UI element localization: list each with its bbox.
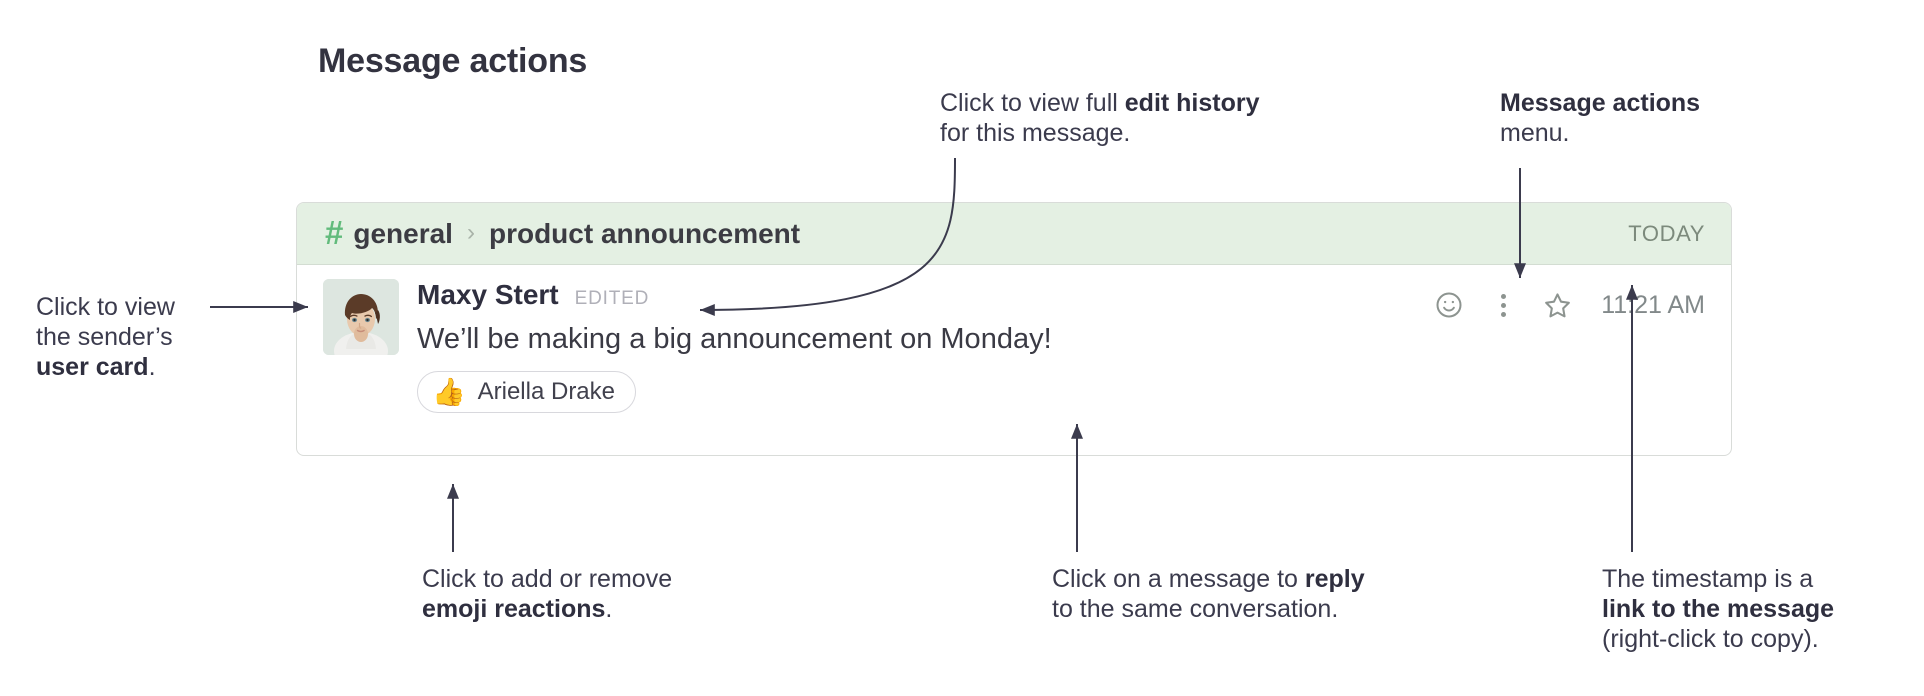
star-message-icon[interactable] — [1541, 289, 1573, 321]
message-text[interactable]: We’ll be making a big announcement on Mo… — [417, 321, 1705, 357]
message-card: # general › product announcement TODAY — [296, 202, 1732, 456]
annotation-user-card: Click to viewthe sender’suser card. — [36, 292, 256, 382]
thumbs-up-icon: 👍 — [432, 379, 466, 406]
dot-2 — [1501, 303, 1506, 308]
reaction-user-name: Ariella Drake — [478, 378, 615, 406]
annotation-edit-history: Click to view full edit historyfor this … — [940, 88, 1360, 148]
message-actions-menu-icon[interactable] — [1487, 289, 1519, 321]
channel-name[interactable]: general — [353, 218, 453, 250]
chevron-right-icon: › — [467, 221, 475, 245]
reaction-row: 👍 Ariella Drake — [417, 371, 1705, 413]
reaction-chip[interactable]: 👍 Ariella Drake — [417, 371, 636, 413]
page-root: Message actions Click to view full edit … — [0, 0, 1924, 696]
day-label: TODAY — [1628, 221, 1705, 247]
topic-name[interactable]: product announcement — [489, 218, 800, 250]
dot-1 — [1501, 294, 1506, 299]
page-title: Message actions — [318, 42, 587, 81]
annotation-timestamp: The timestamp is alink to the message(ri… — [1602, 564, 1902, 654]
edited-flag[interactable]: EDITED — [575, 288, 649, 310]
annotation-actions-menu: Message actionsmenu. — [1500, 88, 1800, 148]
annotation-reply: Click on a message to replyto the same c… — [1052, 564, 1452, 624]
avatar[interactable] — [323, 279, 399, 355]
message-timestamp[interactable]: 11:21 AM — [1601, 291, 1705, 320]
dot-3 — [1501, 312, 1506, 317]
message-actions: 11:21 AM — [1433, 289, 1705, 321]
hash-icon: # — [325, 216, 343, 249]
sender-name[interactable]: Maxy Stert — [417, 279, 559, 311]
annotation-emoji-reactions: Click to add or removeemoji reactions. — [422, 564, 752, 624]
add-reaction-icon[interactable] — [1433, 289, 1465, 321]
message-row[interactable]: Maxy Stert EDITED We’ll be making a big … — [297, 265, 1731, 413]
channel-header: # general › product announcement TODAY — [297, 203, 1731, 265]
